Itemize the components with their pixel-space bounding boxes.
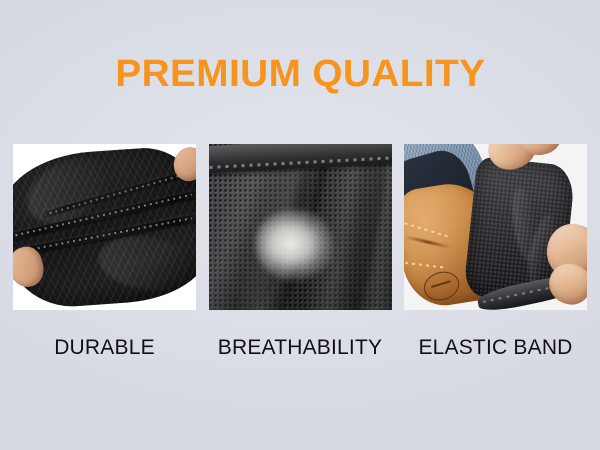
- feature-captions: DURABLE BREATHABILITY ELASTIC BAND: [13, 330, 587, 364]
- shoe-brand-stamp: [421, 267, 464, 304]
- title-bar: PREMIUM QUALITY: [0, 52, 600, 96]
- caption-breathability: BREATHABILITY: [209, 337, 392, 358]
- light-through-mesh-glow: [256, 210, 333, 280]
- leather-stitching: [405, 222, 449, 237]
- feature-panels: [13, 144, 587, 310]
- breathability-photo: [209, 144, 392, 310]
- elastic-band-photo: [404, 144, 587, 310]
- page-title: PREMIUM QUALITY: [115, 55, 485, 93]
- feature-panel-breathability: [209, 144, 392, 310]
- promo-banner: PREMIUM QUALITY: [0, 0, 600, 450]
- fabric-fold-highlight: [96, 230, 196, 295]
- feature-panel-durable: [13, 144, 196, 310]
- caption-elastic-band: ELASTIC BAND: [404, 337, 587, 358]
- leather-stitching: [406, 262, 447, 269]
- black-fabric-shape: [13, 144, 196, 310]
- caption-durable: DURABLE: [13, 337, 196, 358]
- feature-panel-elastic-band: [404, 144, 587, 310]
- durable-photo: [13, 144, 196, 310]
